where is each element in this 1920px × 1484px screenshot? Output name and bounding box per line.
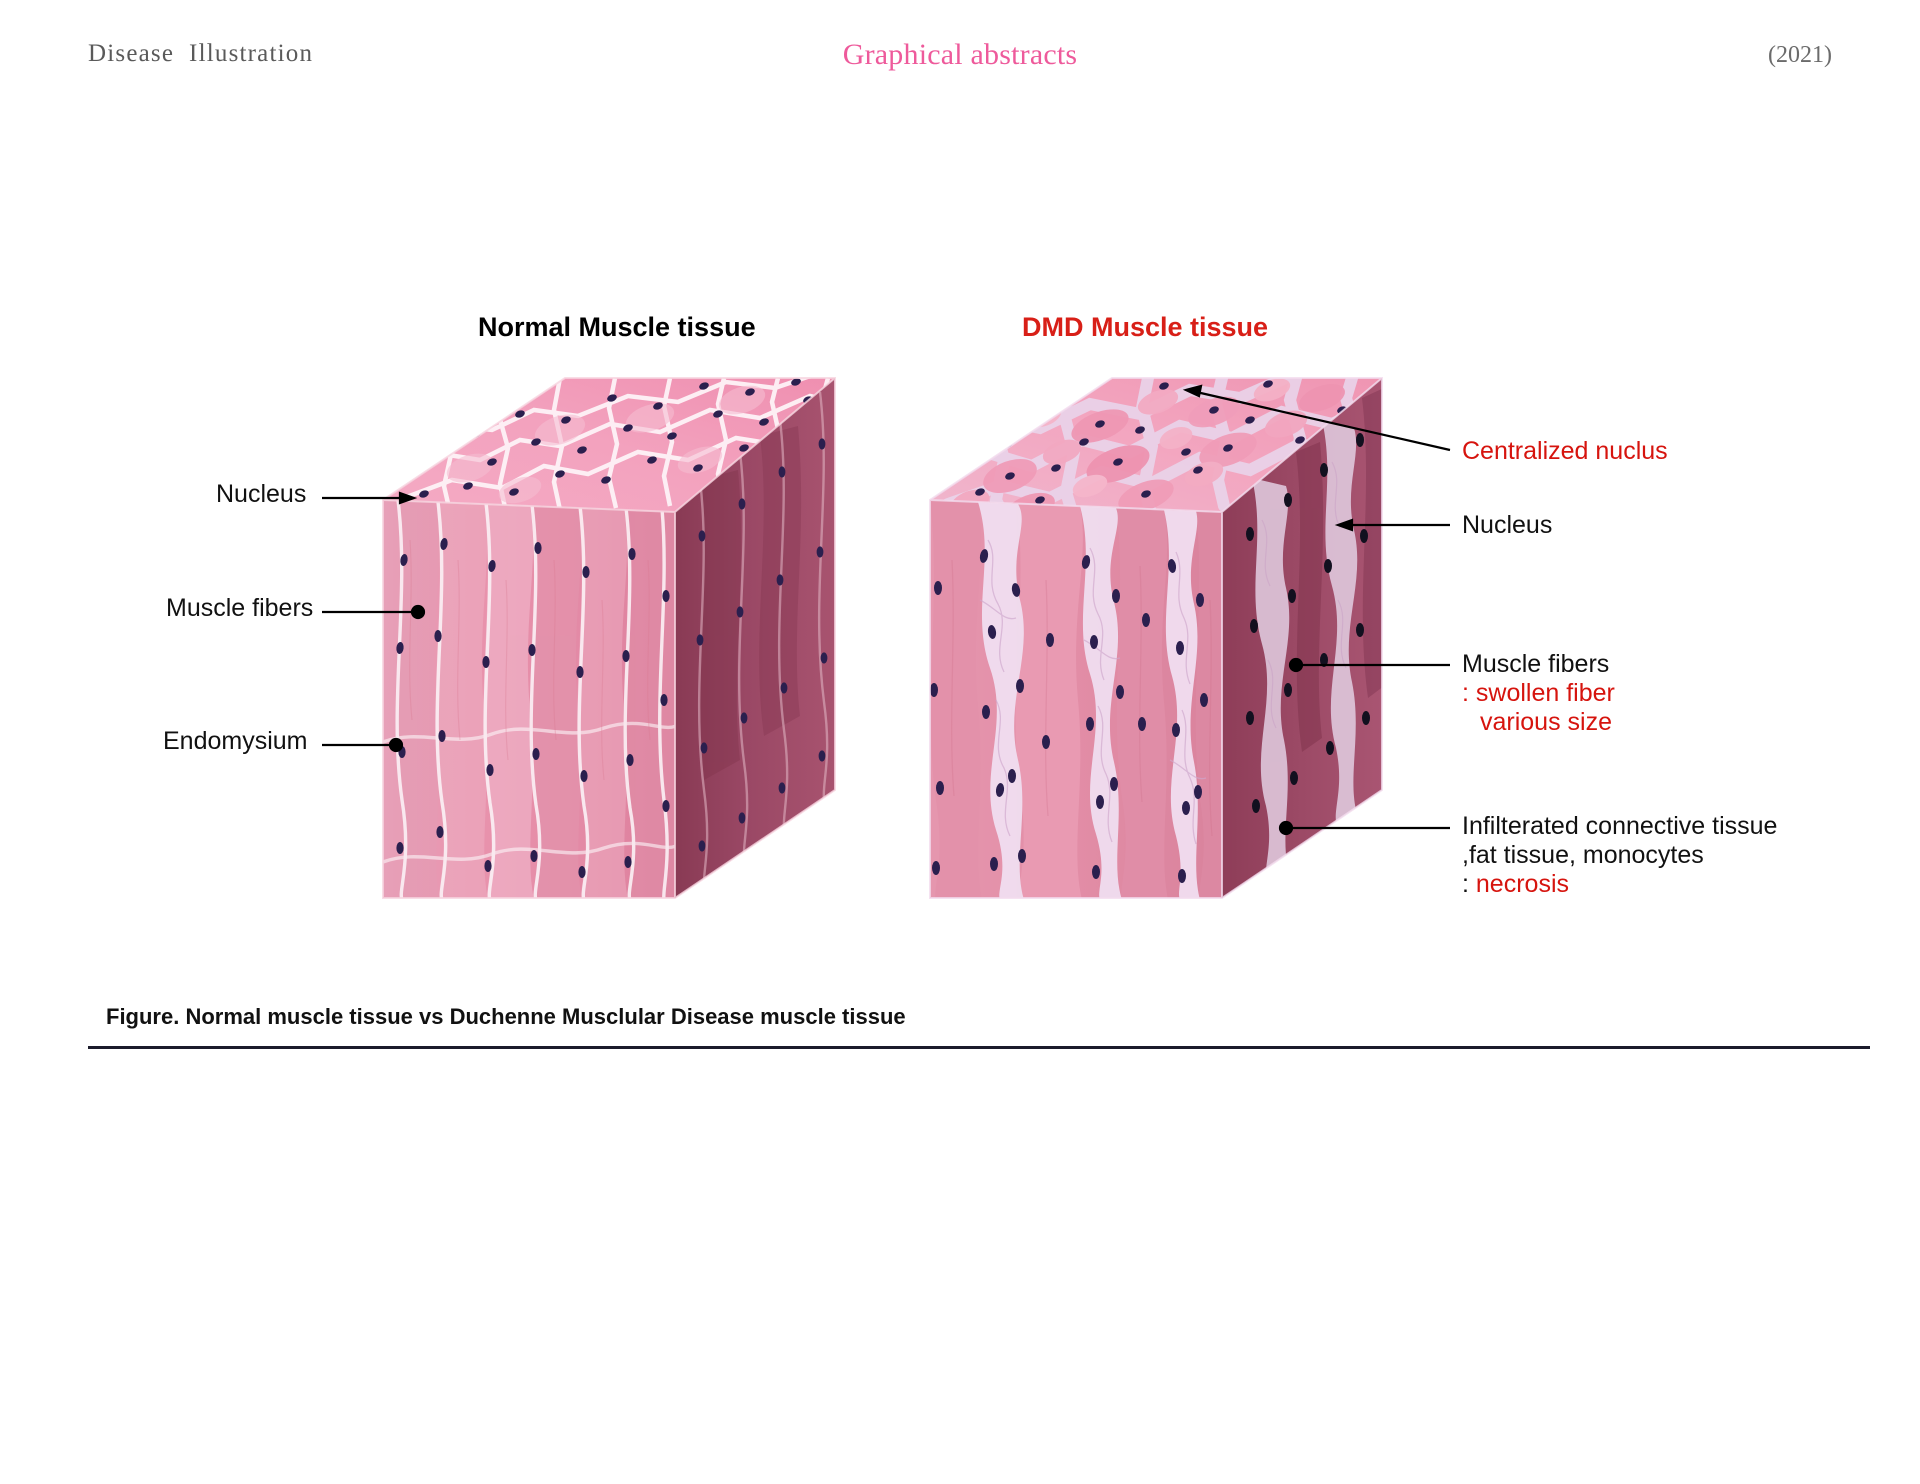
header-year: (2021) [1768, 42, 1832, 69]
leader-dmd-muscle-fibers [1290, 659, 1450, 671]
label-normal-nucleus: Nucleus [216, 480, 306, 509]
label-dmd-infiltrated-tissue: Infilterated connective tissue ,fat tiss… [1462, 812, 1777, 899]
leader-normal-muscle-fibers [322, 606, 424, 618]
label-dmd-infiltrated-sub1: ,fat tissue, monocytes [1462, 841, 1777, 870]
dmd-tissue-block [930, 374, 1384, 900]
label-dmd-centralized-nucleus: Centralized nuclus [1462, 437, 1668, 466]
label-dmd-infiltrated-sub2-line: : necrosis [1462, 870, 1777, 899]
normal-side-face [675, 378, 835, 898]
page-root: Disease Illustration Graphical abstracts… [0, 0, 1920, 1484]
dmd-top-face [930, 374, 1384, 529]
leader-dmd-centralized-nucleus [1186, 386, 1450, 450]
figure-caption: Figure. Normal muscle tissue vs Duchenne… [106, 1004, 906, 1030]
footer-divider [88, 1046, 1870, 1049]
leader-normal-endomysium [322, 739, 402, 751]
dmd-side-face [1222, 378, 1384, 898]
label-dmd-muscle-fibers: Muscle fibers : swollen fiber various si… [1462, 650, 1615, 737]
label-dmd-necrosis-prefix: : [1462, 870, 1476, 898]
leader-lines [322, 386, 1450, 834]
label-dmd-muscle-fibers-sub1: : swollen fiber [1462, 679, 1615, 708]
normal-top-face [383, 372, 838, 512]
leader-normal-nucleus [322, 493, 414, 503]
normal-front-face [383, 500, 676, 900]
panel-title-dmd: DMD Muscle tissue [1022, 312, 1268, 343]
leader-dmd-nucleus [1338, 520, 1450, 530]
panel-title-normal: Normal Muscle tissue [478, 312, 756, 343]
label-dmd-muscle-fibers-sub2: various size [1462, 708, 1615, 737]
label-normal-endomysium: Endomysium [163, 727, 308, 756]
label-dmd-muscle-fibers-main: Muscle fibers [1462, 650, 1609, 678]
page-header: Disease Illustration Graphical abstracts… [0, 40, 1920, 80]
normal-tissue-block [383, 372, 838, 900]
header-center-text: Graphical abstracts [0, 38, 1920, 72]
label-dmd-nucleus: Nucleus [1462, 511, 1552, 540]
dmd-front-face [930, 500, 1222, 900]
label-dmd-infiltrated-main: Infilterated connective tissue [1462, 812, 1777, 840]
label-normal-muscle-fibers: Muscle fibers [166, 594, 313, 623]
label-dmd-necrosis: necrosis [1476, 870, 1569, 898]
leader-dmd-infiltrated [1280, 822, 1450, 834]
